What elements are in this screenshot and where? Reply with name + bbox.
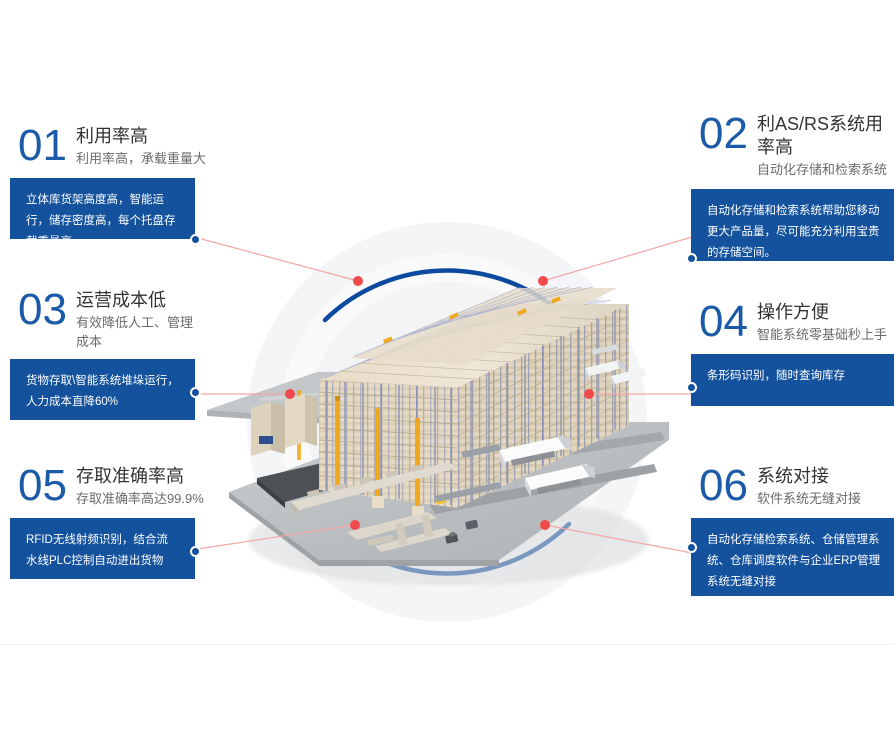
feature-block-01: 01 利用率高 利用率高，承载重量大 立体库货架高度高，智能运行，储存密度高，每… (10, 124, 206, 239)
feature-title-02: 利AS/RS系统用 率高 (757, 113, 887, 159)
feature-card-02: 自动化存储和检索系统帮助您移动更大产品量，尽可能充分利用宝贵的存储空间。 (691, 189, 894, 261)
feature-titles-03: 运营成本低 有效降低人工、管理成本 (76, 288, 204, 351)
connector-node-02 (686, 253, 697, 264)
feature-titles-06: 系统对接 软件系统无缝对接 (757, 464, 861, 508)
feature-header-02: 02 利AS/RS系统用 率高 自动化存储和检索系统 (699, 112, 894, 179)
feature-body-03: 货物存取\智能系统堆垛运行，人力成本直降60% (26, 371, 179, 413)
feature-title-04: 操作方便 (757, 301, 887, 324)
feature-titles-04: 操作方便 智能系统零基础秒上手 (757, 300, 887, 344)
feature-block-03: 03 运营成本低 有效降低人工、管理成本 货物存取\智能系统堆垛运行，人力成本直… (10, 288, 204, 420)
feature-body-01: 立体库货架高度高，智能运行，储存密度高，每个托盘存载重量高 (26, 190, 179, 253)
feature-subtitle-06: 软件系统无缝对接 (757, 489, 861, 508)
infographic-page: 01 利用率高 利用率高，承载重量大 立体库货架高度高，智能运行，储存密度高，每… (0, 0, 894, 730)
feature-titles-01: 利用率高 利用率高，承载重量大 (76, 124, 206, 168)
connector-node-05 (190, 546, 201, 557)
feature-block-05: 05 存取准确率高 存取准确率高达99.9% RFID无线射频识别，结合流水线P… (10, 464, 204, 579)
feature-number-01: 01 (18, 124, 67, 168)
feature-header-05: 05 存取准确率高 存取准确率高达99.9% (18, 464, 204, 508)
central-illustration (197, 222, 697, 622)
feature-subtitle-01: 利用率高，承载重量大 (76, 149, 206, 168)
feature-number-05: 05 (18, 464, 67, 508)
feature-block-06: 06 系统对接 软件系统无缝对接 自动化存储检索系统、仓储管理系统、仓库调度软件… (691, 464, 894, 596)
feature-title-03: 运营成本低 (76, 289, 204, 312)
feature-subtitle-04: 智能系统零基础秒上手 (757, 325, 887, 344)
feature-header-06: 06 系统对接 软件系统无缝对接 (699, 464, 894, 508)
bottom-divider (0, 644, 894, 645)
feature-title-05: 存取准确率高 (76, 465, 204, 488)
connector-node-03 (190, 387, 201, 398)
feature-card-01: 立体库货架高度高，智能运行，储存密度高，每个托盘存载重量高 (10, 178, 195, 239)
feature-header-04: 04 操作方便 智能系统零基础秒上手 (699, 300, 894, 344)
feature-title-01: 利用率高 (76, 125, 206, 148)
feature-titles-02: 利AS/RS系统用 率高 自动化存储和检索系统 (757, 112, 887, 179)
feature-subtitle-02: 自动化存储和检索系统 (757, 160, 887, 179)
feature-subtitle-05: 存取准确率高达99.9% (76, 489, 204, 508)
feature-number-02: 02 (699, 112, 748, 156)
feature-card-05: RFID无线射频识别，结合流水线PLC控制自动进出货物 (10, 518, 195, 579)
feature-body-05: RFID无线射频识别，结合流水线PLC控制自动进出货物 (26, 530, 179, 572)
feature-card-04: 条形码识别，随时查询库存 (691, 354, 894, 406)
feature-header-01: 01 利用率高 利用率高，承载重量大 (18, 124, 206, 168)
feature-subtitle-03: 有效降低人工、管理成本 (76, 313, 204, 351)
feature-card-06: 自动化存储检索系统、仓储管理系统、仓库调度软件与企业ERP管理系统无缝对接 (691, 518, 894, 596)
feature-header-03: 03 运营成本低 有效降低人工、管理成本 (18, 288, 204, 351)
feature-block-04: 04 操作方便 智能系统零基础秒上手 条形码识别，随时查询库存 (691, 300, 894, 406)
feature-body-06: 自动化存储检索系统、仓储管理系统、仓库调度软件与企业ERP管理系统无缝对接 (707, 530, 885, 593)
feature-card-03: 货物存取\智能系统堆垛运行，人力成本直降60% (10, 359, 195, 420)
connector-node-04 (686, 382, 697, 393)
connector-node-01 (190, 234, 201, 245)
warehouse-render (199, 240, 695, 600)
connector-node-06 (686, 542, 697, 553)
feature-title-06: 系统对接 (757, 465, 861, 488)
feature-number-03: 03 (18, 288, 67, 332)
feature-number-06: 06 (699, 464, 748, 508)
feature-block-02: 02 利AS/RS系统用 率高 自动化存储和检索系统 自动化存储和检索系统帮助您… (691, 112, 894, 261)
feature-body-04: 条形码识别，随时查询库存 (707, 366, 885, 387)
feature-body-02: 自动化存储和检索系统帮助您移动更大产品量，尽可能充分利用宝贵的存储空间。 (707, 201, 885, 264)
feature-number-04: 04 (699, 300, 748, 344)
feature-titles-05: 存取准确率高 存取准确率高达99.9% (76, 464, 204, 508)
